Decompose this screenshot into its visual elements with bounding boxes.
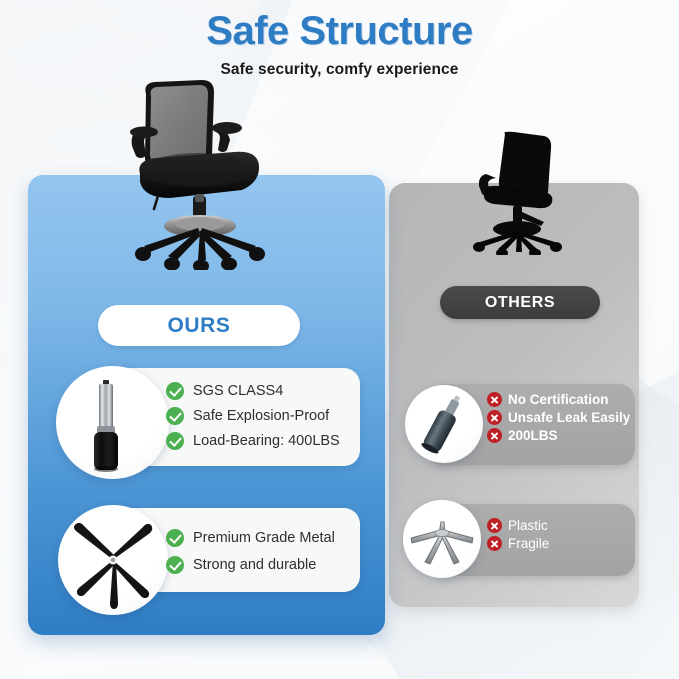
red-x-circle-icon xyxy=(487,410,502,425)
red-x-circle-icon xyxy=(487,518,502,533)
list-item-label: 200LBS xyxy=(508,428,558,443)
page-subtitle: Safe security, comfy experience xyxy=(0,61,679,79)
ours-feature-list: Premium Grade Metal Strong and durable xyxy=(166,529,335,574)
green-check-circle-icon xyxy=(166,407,184,425)
green-check-circle-icon xyxy=(166,432,184,450)
list-item-label: Safe Explosion-Proof xyxy=(193,408,329,424)
list-item: No Certification xyxy=(487,392,630,407)
others-five-star-base-image xyxy=(403,500,481,578)
others-badge-label: OTHERS xyxy=(485,294,555,312)
green-check-circle-icon xyxy=(166,529,184,547)
red-x-circle-icon xyxy=(487,392,502,407)
list-item-label: SGS CLASS4 xyxy=(193,383,283,399)
list-item: Safe Explosion-Proof xyxy=(166,407,340,425)
infographic-page: Safe Structure Safe security, comfy expe… xyxy=(0,0,679,679)
list-item: Load-Bearing: 400LBS xyxy=(166,432,340,450)
others-feature-list: No Certification Unsafe Leak Easily 200L… xyxy=(487,392,630,443)
list-item: Plastic xyxy=(487,518,549,533)
others-chair-image xyxy=(458,130,580,255)
list-item: Premium Grade Metal xyxy=(166,529,335,547)
red-x-circle-icon xyxy=(487,536,502,551)
list-item-label: No Certification xyxy=(508,392,609,407)
page-title: Safe Structure xyxy=(0,8,679,54)
list-item-label: Unsafe Leak Easily xyxy=(508,410,630,425)
list-item-label: Strong and durable xyxy=(193,557,316,573)
ours-gas-cylinder-image xyxy=(56,366,169,479)
list-item: Unsafe Leak Easily xyxy=(487,410,630,425)
red-x-circle-icon xyxy=(487,428,502,443)
ours-badge-label: OURS xyxy=(167,314,230,338)
ours-five-star-base-image xyxy=(58,505,168,615)
ours-feature-list: SGS CLASS4 Safe Explosion-Proof Load-Bea… xyxy=(166,382,340,450)
list-item-label: Fragile xyxy=(508,536,549,551)
others-feature-list: Plastic Fragile xyxy=(487,518,549,551)
green-check-circle-icon xyxy=(166,382,184,400)
list-item-label: Plastic xyxy=(508,518,548,533)
ours-badge: OURS xyxy=(98,305,300,346)
ours-chair-image xyxy=(110,78,292,270)
header: Safe Structure Safe security, comfy expe… xyxy=(0,8,679,79)
list-item: Strong and durable xyxy=(166,556,335,574)
list-item-label: Premium Grade Metal xyxy=(193,530,335,546)
list-item: 200LBS xyxy=(487,428,630,443)
list-item-label: Load-Bearing: 400LBS xyxy=(193,433,340,449)
others-badge: OTHERS xyxy=(440,286,600,319)
others-gas-cylinder-image xyxy=(405,385,483,463)
list-item: SGS CLASS4 xyxy=(166,382,340,400)
list-item: Fragile xyxy=(487,536,549,551)
green-check-circle-icon xyxy=(166,556,184,574)
